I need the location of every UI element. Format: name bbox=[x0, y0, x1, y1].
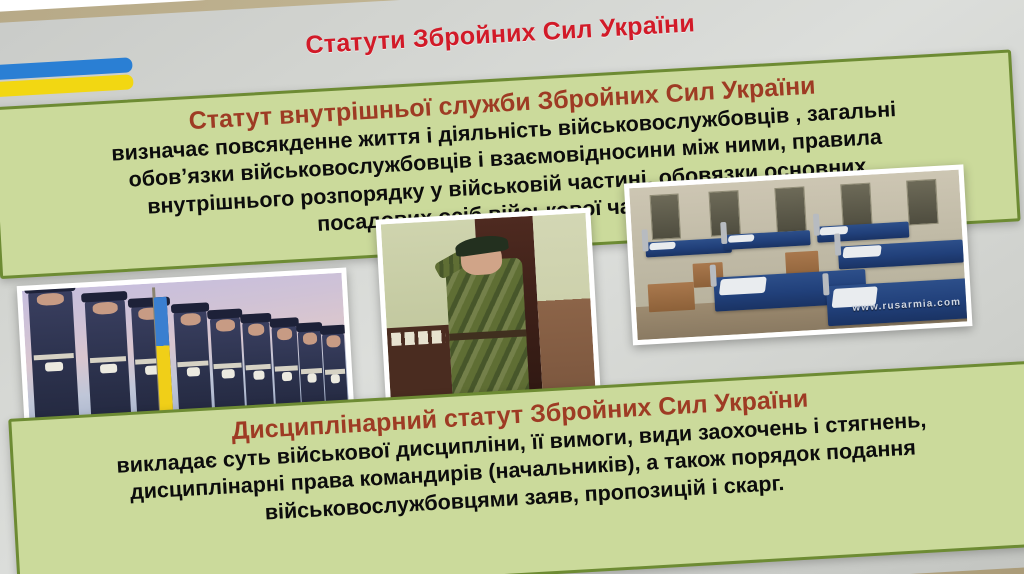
guard-belt bbox=[89, 356, 126, 363]
guard-face bbox=[276, 328, 292, 341]
guard-cap bbox=[81, 291, 128, 303]
guard-face bbox=[37, 293, 65, 307]
guard-figure bbox=[28, 290, 80, 428]
barracks-window bbox=[840, 182, 872, 229]
guard-cap bbox=[320, 325, 346, 335]
slide-poster: Статути Збройних Сил України Статут внут… bbox=[0, 0, 1024, 574]
guard-glove bbox=[281, 371, 292, 381]
slide-stage: Статути Збройних Сил України Статут внут… bbox=[0, 0, 1024, 574]
page-title: Статути Збройних Сил України bbox=[190, 3, 811, 67]
guard-figure bbox=[271, 325, 301, 414]
barracks-window bbox=[775, 186, 807, 233]
barracks-bed-rail bbox=[813, 213, 820, 235]
barracks-pillow bbox=[842, 245, 881, 258]
guard-cap bbox=[207, 308, 242, 319]
guard-cap bbox=[295, 322, 322, 332]
guard-cap bbox=[269, 317, 298, 328]
photo-saluting-soldier-inner bbox=[381, 213, 596, 410]
guard-glove bbox=[307, 373, 317, 383]
guard-face bbox=[216, 319, 235, 332]
barracks-pillow bbox=[728, 234, 755, 243]
guard-cap bbox=[240, 313, 272, 324]
guard-belt bbox=[214, 363, 242, 370]
guard-face bbox=[247, 323, 264, 336]
guard-face bbox=[180, 313, 201, 326]
guard-figure bbox=[242, 321, 274, 416]
guard-glove bbox=[186, 367, 200, 377]
photo-barracks-beds: www.rusarmia.com bbox=[624, 164, 973, 345]
barracks-nightstand bbox=[648, 282, 696, 312]
barracks-bed-rail bbox=[834, 233, 841, 255]
guard-figure bbox=[210, 317, 246, 419]
barracks-pillow bbox=[719, 277, 766, 296]
barracks-window bbox=[906, 178, 938, 225]
guard-face bbox=[92, 302, 117, 315]
slide-tilt-wrapper: Статути Збройних Сил України Статут внут… bbox=[0, 0, 1024, 574]
guard-face bbox=[326, 335, 340, 348]
guard-cap bbox=[170, 302, 209, 313]
guard-glove bbox=[100, 364, 117, 374]
guard-figure bbox=[85, 299, 132, 425]
photo-barracks-inner: www.rusarmia.com bbox=[629, 170, 967, 340]
guard-face bbox=[302, 332, 317, 345]
guard-glove bbox=[221, 369, 234, 379]
photo-wall-right bbox=[532, 213, 596, 402]
guard-belt bbox=[33, 353, 74, 360]
ukrainian-flag-ribbon-icon bbox=[0, 57, 134, 105]
guard-glove bbox=[253, 370, 265, 380]
barracks-window bbox=[649, 193, 681, 240]
guard-belt bbox=[178, 360, 209, 367]
guard-figure bbox=[173, 310, 212, 420]
guard-cap bbox=[24, 282, 75, 294]
barracks-pillow bbox=[649, 241, 676, 250]
guard-glove bbox=[45, 361, 64, 371]
guard-glove bbox=[331, 374, 341, 384]
photo-saluting-soldier bbox=[376, 208, 602, 416]
